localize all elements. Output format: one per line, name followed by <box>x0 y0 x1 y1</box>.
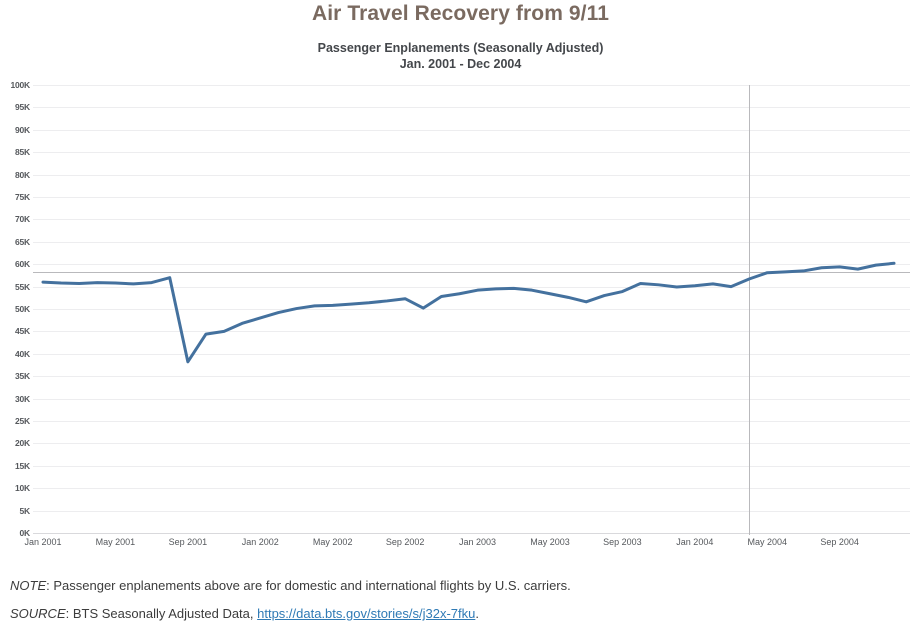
y-axis-tick-label: 10K <box>0 483 30 493</box>
y-axis-tick-label: 35K <box>0 371 30 381</box>
y-axis-tick-label: 90K <box>0 125 30 135</box>
y-axis-tick-label: 30K <box>0 394 30 404</box>
source-footer: SOURCE: BTS Seasonally Adjusted Data, ht… <box>10 606 910 621</box>
source-end: . <box>475 606 479 621</box>
y-axis-tick-label: 55K <box>0 282 30 292</box>
page-title: Air Travel Recovery from 9/11 <box>0 2 921 26</box>
y-axis-tick-label: 15K <box>0 461 30 471</box>
source-keyword: SOURCE <box>10 606 66 621</box>
chart-page: Air Travel Recovery from 9/11 Passenger … <box>0 0 921 625</box>
y-axis-tick-label: 60K <box>0 259 30 269</box>
y-axis-tick-label: 65K <box>0 237 30 247</box>
source-link[interactable]: https://data.bts.gov/stories/s/j32x-7fku <box>257 606 475 621</box>
note-text: : Passenger enplanements above are for d… <box>46 578 571 593</box>
y-axis-tick-label: 40K <box>0 349 30 359</box>
source-text: : BTS Seasonally Adjusted Data, <box>66 606 258 621</box>
y-axis-tick-label: 50K <box>0 304 30 314</box>
y-axis-tick-label: 25K <box>0 416 30 426</box>
subtitle-line-2: Jan. 2001 - Dec 2004 <box>0 56 921 72</box>
y-axis-tick-label: 85K <box>0 147 30 157</box>
subtitle-line-1: Passenger Enplanements (Seasonally Adjus… <box>318 41 604 55</box>
y-axis-tick-label: 95K <box>0 102 30 112</box>
y-axis-tick-label: 80K <box>0 170 30 180</box>
note-keyword: NOTE <box>10 578 46 593</box>
y-axis-tick-label: 45K <box>0 326 30 336</box>
y-axis-tick-label: 20K <box>0 438 30 448</box>
y-axis-tick-label: 70K <box>0 214 30 224</box>
y-axis-tick-label: 75K <box>0 192 30 202</box>
y-axis-tick-label: 5K <box>0 506 30 516</box>
note-footer: NOTE: Passenger enplanements above are f… <box>10 578 910 593</box>
series-line <box>43 263 894 362</box>
line-series <box>33 85 910 535</box>
x-axis-tick-label: Sep 2004 <box>795 537 885 547</box>
chart-subtitle: Passenger Enplanements (Seasonally Adjus… <box>0 40 921 72</box>
y-axis-tick-label: 100K <box>0 80 30 90</box>
